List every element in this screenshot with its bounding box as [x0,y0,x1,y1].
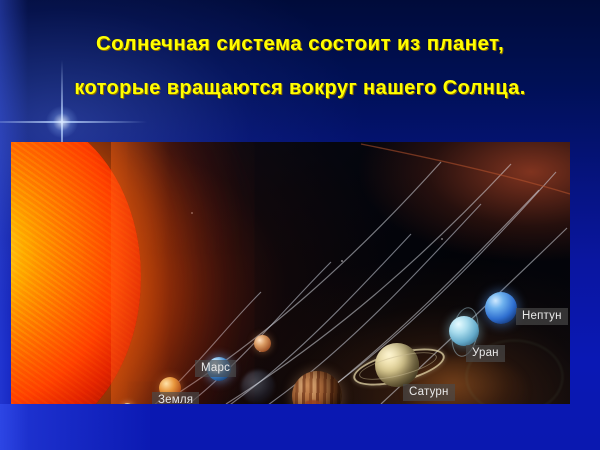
label-neptune: Нептун [516,308,568,325]
label-saturn: Сатурн [403,384,455,401]
orbit-jupiter [95,172,556,404]
star-horizontal-ray [0,121,147,123]
label-mars: Марс [195,360,236,377]
star-core [46,106,78,138]
title-line-2: которые вращаются вокруг нашего Солнца. [0,66,600,110]
planet-uranus [449,316,479,346]
planet-mars [254,335,271,352]
title-line-1: Солнечная система состоит из планет, [0,22,600,66]
page-title: Солнечная система состоит из планет, кот… [0,22,600,110]
label-uranus: Уран [466,345,505,362]
orbit-far-arc [361,144,570,194]
label-earth: Земля [152,392,199,404]
bottom-left-light-band [0,404,150,450]
solar-system-image: Меркурий Венера Земля Марс Юпитер Сатурн… [11,142,570,404]
presentation-slide: Солнечная система состоит из планет, кот… [0,0,600,450]
planet-neptune [485,292,517,324]
